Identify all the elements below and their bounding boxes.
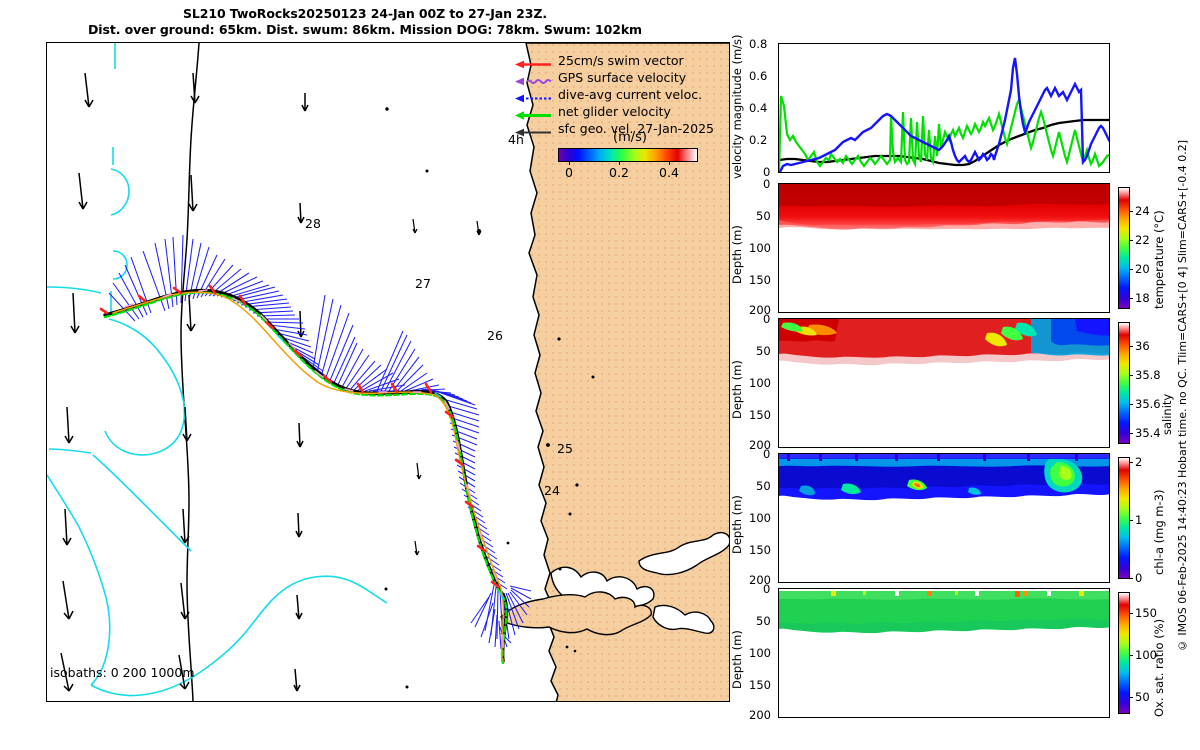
- depth-ytick: [778, 455, 779, 456]
- depth-ytick: [778, 519, 779, 520]
- legend-item-net-glider-velocity: net glider velocity: [515, 103, 715, 120]
- salinity-section-panel[interactable]: [778, 318, 1110, 448]
- oxygen-depth-axis-label: Depth (m): [730, 620, 744, 700]
- cbar-tick: [1129, 346, 1133, 347]
- map-ytick: [46, 664, 47, 665]
- velocity-ytick-label: 0.4: [749, 101, 767, 115]
- cbar-tick-label: 36: [1135, 339, 1150, 353]
- cbar-tick-label: 22: [1135, 233, 1150, 247]
- page-title: SL210 TwoRocks20250123 24-Jan 00Z to 27-…: [0, 6, 730, 38]
- salinity-colorbar: 35.4 35.6 35.8 36: [1118, 322, 1130, 444]
- cbar-tick-label: 35.6: [1135, 397, 1161, 411]
- depth-ytick: [778, 590, 779, 591]
- title-line-2: Dist. over ground: 65km. Dist. swum: 86k…: [0, 22, 730, 38]
- depth-ytick: [778, 686, 779, 687]
- left-arrow-icon: [515, 106, 553, 117]
- depth-ytick-label: 50: [756, 614, 771, 628]
- depth-ytick: [778, 281, 779, 282]
- map-xtick: [456, 701, 457, 702]
- map-ytick: [46, 340, 47, 341]
- depth-ytick: [778, 583, 779, 584]
- depth-ytick: [778, 416, 779, 417]
- oxygen-section-data: [779, 589, 1110, 718]
- cbar-tick: [1129, 269, 1133, 270]
- temperature-section-panel[interactable]: [778, 183, 1110, 313]
- cbar-tick: [1129, 655, 1133, 656]
- depth-ytick: [778, 384, 779, 385]
- velocity-ytick-label: 0.2: [749, 133, 767, 147]
- cbar-tick: [1129, 520, 1133, 521]
- time-scale-label: 4h: [508, 132, 524, 147]
- oxygen-colorbar: 50 100 150: [1118, 592, 1130, 714]
- depth-ytick-label: 0: [763, 447, 770, 461]
- map-xtick: [690, 701, 691, 702]
- colorbar-tick-label: 0.2: [609, 165, 629, 180]
- depth-ytick-label: 200: [749, 708, 771, 722]
- depth-ytick: [778, 654, 779, 655]
- legend-label: 25cm/s swim vector: [558, 53, 684, 68]
- map-xtick: [339, 701, 340, 702]
- depth-ytick: [778, 352, 779, 353]
- oxygen-saturation-section-panel[interactable]: 25Jan 26Jan 27Jan: [778, 588, 1110, 718]
- salinity-colorbar-title: salinity: [1160, 355, 1174, 435]
- salinity-depth-axis-label: Depth (m): [730, 350, 744, 430]
- velocity-ytick: [778, 45, 779, 46]
- map-colorbar-units: (m/s): [545, 130, 715, 145]
- track-day-label: 24: [544, 483, 560, 498]
- velocity-ytick: [778, 77, 779, 78]
- left-arrow-icon: [515, 55, 553, 66]
- isobath-1000m: [47, 43, 387, 696]
- track-day-label: 26: [487, 328, 503, 343]
- cbar-tick: [1129, 298, 1133, 299]
- salinity-section-data: [779, 319, 1110, 448]
- velocity-magnitude-timeseries[interactable]: [778, 43, 1110, 173]
- depth-ytick: [778, 551, 779, 552]
- cbar-tick-label: 20: [1135, 262, 1150, 276]
- map-ytick: [46, 81, 47, 82]
- velocity-ytick-label: 0.8: [749, 37, 767, 51]
- legend-item-swim-vector: 25cm/s swim vector: [515, 52, 715, 69]
- velocity-ytick: [778, 173, 779, 174]
- cbar-tick: [1129, 613, 1133, 614]
- depth-ytick-label: 0: [763, 177, 770, 191]
- chla-colorbar-title: chl-a (mg m-3): [1152, 460, 1166, 575]
- velocity-ytick-label: 0.6: [749, 69, 767, 83]
- map-ytick: [46, 276, 47, 277]
- depth-ytick: [778, 718, 779, 719]
- cbar-tick: [1129, 462, 1133, 463]
- map-ytick: [46, 146, 47, 147]
- depth-ytick: [778, 448, 779, 449]
- surface-geostrophic-vector-field: [61, 73, 481, 691]
- cbar-tick: [1129, 211, 1133, 212]
- depth-ytick-label: 0: [763, 312, 770, 326]
- depth-ytick-label: 100: [749, 646, 771, 660]
- depth-ytick-label: 50: [756, 479, 771, 493]
- track-day-label: 27: [415, 276, 431, 291]
- track-day-label: 28: [305, 216, 321, 231]
- legend-item-dive-avg-current: dive-avg current veloc.: [515, 86, 715, 103]
- chla-section-panel[interactable]: [778, 453, 1110, 583]
- depth-ytick: [778, 622, 779, 623]
- temperature-colorbar: 18 20 22 24: [1118, 187, 1130, 309]
- legend-label: net glider velocity: [558, 104, 671, 119]
- cbar-tick: [1129, 375, 1133, 376]
- map-ytick: [46, 405, 47, 406]
- map-ytick: [46, 211, 47, 212]
- map-ytick: [46, 535, 47, 536]
- oxygen-colorbar-title: Ox. sat. ratio (%): [1152, 592, 1166, 717]
- velocity-ytick: [778, 141, 779, 142]
- cbar-tick-label: 35.4: [1135, 426, 1161, 440]
- cbar-tick-label: 0: [1135, 571, 1142, 585]
- temperature-depth-axis-label: Depth (m): [730, 215, 744, 295]
- title-line-1: SL210 TwoRocks20250123 24-Jan 00Z to 27-…: [0, 6, 730, 22]
- depth-ytick: [778, 249, 779, 250]
- left-arrow-icon: [515, 89, 553, 100]
- time-xtick: [945, 717, 946, 718]
- depth-ytick: [778, 185, 779, 186]
- depth-ytick-label: 150: [749, 543, 771, 557]
- temperature-colorbar-title: temperature (°C): [1152, 185, 1166, 309]
- cbar-tick-label: 2: [1135, 455, 1142, 469]
- depth-ytick: [778, 217, 779, 218]
- left-arrow-icon: [515, 72, 553, 83]
- depth-ytick-label: 50: [756, 209, 771, 223]
- temperature-section-data: [779, 184, 1110, 313]
- chla-section-data: [779, 454, 1110, 583]
- cbar-tick-label: 35.8: [1135, 368, 1161, 382]
- cbar-tick-label: 24: [1135, 204, 1150, 218]
- depth-ytick-label: 100: [749, 511, 771, 525]
- depth-ytick: [778, 313, 779, 314]
- time-xtick: [1028, 717, 1029, 718]
- velocity-lines: [779, 44, 1110, 173]
- legend-label: dive-avg current veloc.: [558, 87, 702, 102]
- cbar-tick: [1129, 433, 1133, 434]
- depth-ytick-label: 0: [763, 582, 770, 596]
- depth-ytick: [778, 320, 779, 321]
- map-xtick: [573, 701, 574, 702]
- cbar-tick-label: 50: [1135, 690, 1150, 704]
- chla-colorbar: 0 1 2: [1118, 457, 1130, 579]
- cbar-tick: [1129, 578, 1133, 579]
- map-ytick: [46, 599, 47, 600]
- depth-ytick-label: 150: [749, 678, 771, 692]
- cbar-tick: [1129, 697, 1133, 698]
- cbar-tick-label: 1: [1135, 513, 1142, 527]
- map-legend: 25cm/s swim vector GPS surface velocity …: [515, 52, 715, 137]
- track-day-label: 25: [557, 441, 573, 456]
- depth-ytick-label: 150: [749, 273, 771, 287]
- depth-ytick-label: 100: [749, 241, 771, 255]
- depth-ytick: [778, 487, 779, 488]
- map-ytick: [46, 470, 47, 471]
- velocity-axis-label: velocity magnitude (m/s): [730, 24, 744, 189]
- cbar-tick: [1129, 240, 1133, 241]
- cbar-tick-label: 18: [1135, 291, 1150, 305]
- velocity-ytick: [778, 109, 779, 110]
- time-xtick: [862, 717, 863, 718]
- chla-depth-axis-label: Depth (m): [730, 485, 744, 565]
- map-velocity-colorbar: 0 0.2 0.4: [558, 148, 698, 162]
- imos-credit-text: © IMOS 06-Feb-2025 14:40:23 Hobart time.…: [1176, 140, 1189, 652]
- map-xtick: [222, 701, 223, 702]
- colorbar-tick-label: 0: [565, 165, 573, 180]
- depth-ytick-label: 150: [749, 408, 771, 422]
- dive-avg-current-vectors: [109, 235, 531, 649]
- depth-ytick-label: 100: [749, 376, 771, 390]
- colorbar-tick-label: 0.4: [659, 165, 679, 180]
- depth-ytick-label: 50: [756, 344, 771, 358]
- legend-item-gps-surface-velocity: GPS surface velocity: [515, 69, 715, 86]
- legend-label: GPS surface velocity: [558, 70, 686, 85]
- cbar-tick: [1129, 404, 1133, 405]
- isobath-legend-note: isobaths: 0 200 1000m: [50, 665, 195, 680]
- glider-track: [101, 286, 506, 663]
- map-xtick: [105, 701, 106, 702]
